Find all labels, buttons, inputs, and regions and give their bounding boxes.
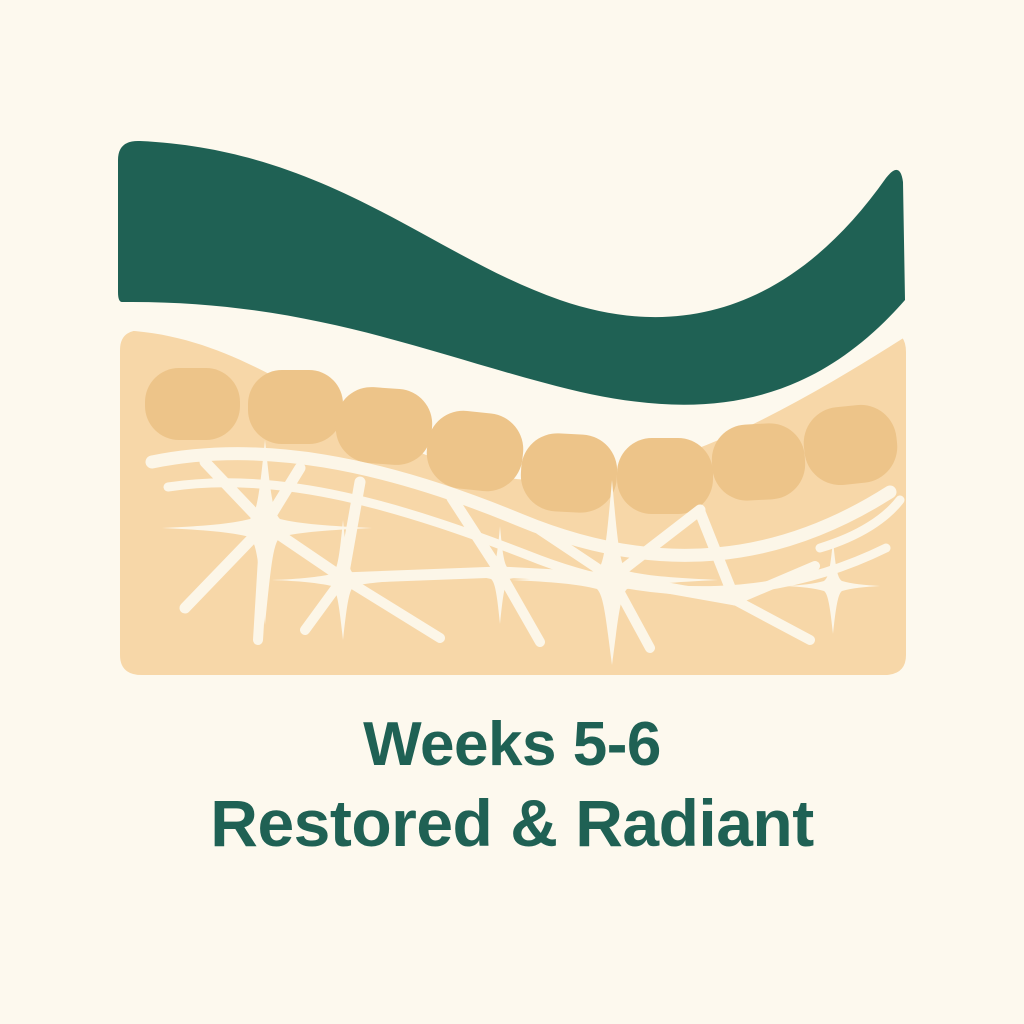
skin-cell	[519, 432, 619, 515]
skin-cell	[710, 422, 807, 503]
skin-cell	[333, 385, 434, 468]
skin-cell	[617, 438, 713, 514]
skin-cross-section-illustration	[0, 0, 1024, 1024]
caption-line-primary: Weeks 5-6	[0, 714, 1024, 776]
caption-line-secondary: Restored & Radiant	[0, 790, 1024, 856]
caption-block: Weeks 5-6 Restored & Radiant	[0, 714, 1024, 856]
illustration-svg	[0, 0, 1024, 1024]
skin-cell	[145, 368, 240, 440]
skin-cell	[248, 370, 343, 444]
image-canvas: Weeks 5-6 Restored & Radiant	[0, 0, 1024, 1024]
